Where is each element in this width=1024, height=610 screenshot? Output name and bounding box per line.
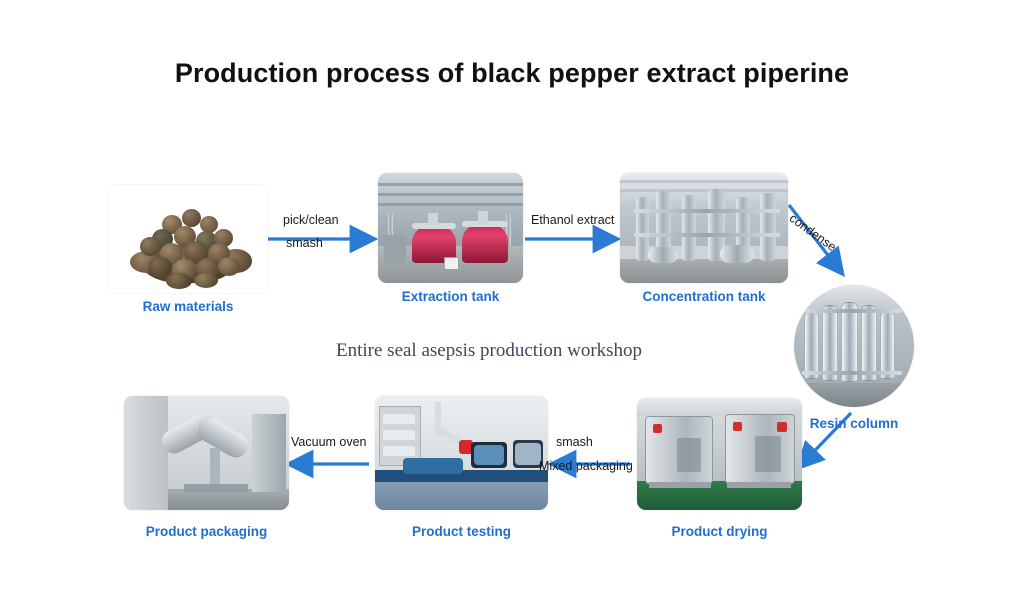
node-concentration-tank[interactable]: Concentration tank <box>620 173 788 283</box>
node-extraction-tank[interactable]: Extraction tank <box>378 173 523 283</box>
node-resin-column[interactable]: Resin column <box>794 285 914 407</box>
product-drying-label: Product drying <box>637 524 802 539</box>
edge-label-ethanol-extract: Ethanol extract <box>531 213 614 227</box>
product-packaging-label: Product packaging <box>124 524 289 539</box>
edge-label-pick-clean: pick/clean <box>283 213 339 227</box>
product-drying-image <box>637 398 802 510</box>
extraction-tank-image <box>378 173 523 283</box>
node-product-testing[interactable]: Product testing <box>375 396 548 510</box>
node-raw-materials[interactable]: Raw materials <box>108 185 268 293</box>
edge-label-condense: condense <box>787 211 839 254</box>
page-title: Production process of black pepper extra… <box>0 58 1024 89</box>
raw-materials-label: Raw materials <box>108 299 268 314</box>
extraction-tank-label: Extraction tank <box>378 289 523 304</box>
node-product-packaging[interactable]: Product packaging <box>124 396 289 510</box>
product-packaging-image <box>124 396 289 510</box>
product-testing-image <box>375 396 548 510</box>
node-product-drying[interactable]: Product drying <box>637 398 802 510</box>
raw-materials-image <box>108 185 268 293</box>
edge-label-smash-2: smash <box>556 435 593 449</box>
resin-column-image <box>794 285 914 407</box>
edge-label-vacuum-oven: Vacuum oven <box>291 435 367 449</box>
product-testing-label: Product testing <box>375 524 548 539</box>
concentration-tank-label: Concentration tank <box>620 289 788 304</box>
edge-label-smash: smash <box>286 236 323 250</box>
resin-column-label: Resin column <box>794 416 914 431</box>
workshop-caption: Entire seal asepsis production workshop <box>336 340 642 362</box>
concentration-tank-image <box>620 173 788 283</box>
edge-label-mixed-packaging: Mixed packaging <box>539 459 633 473</box>
